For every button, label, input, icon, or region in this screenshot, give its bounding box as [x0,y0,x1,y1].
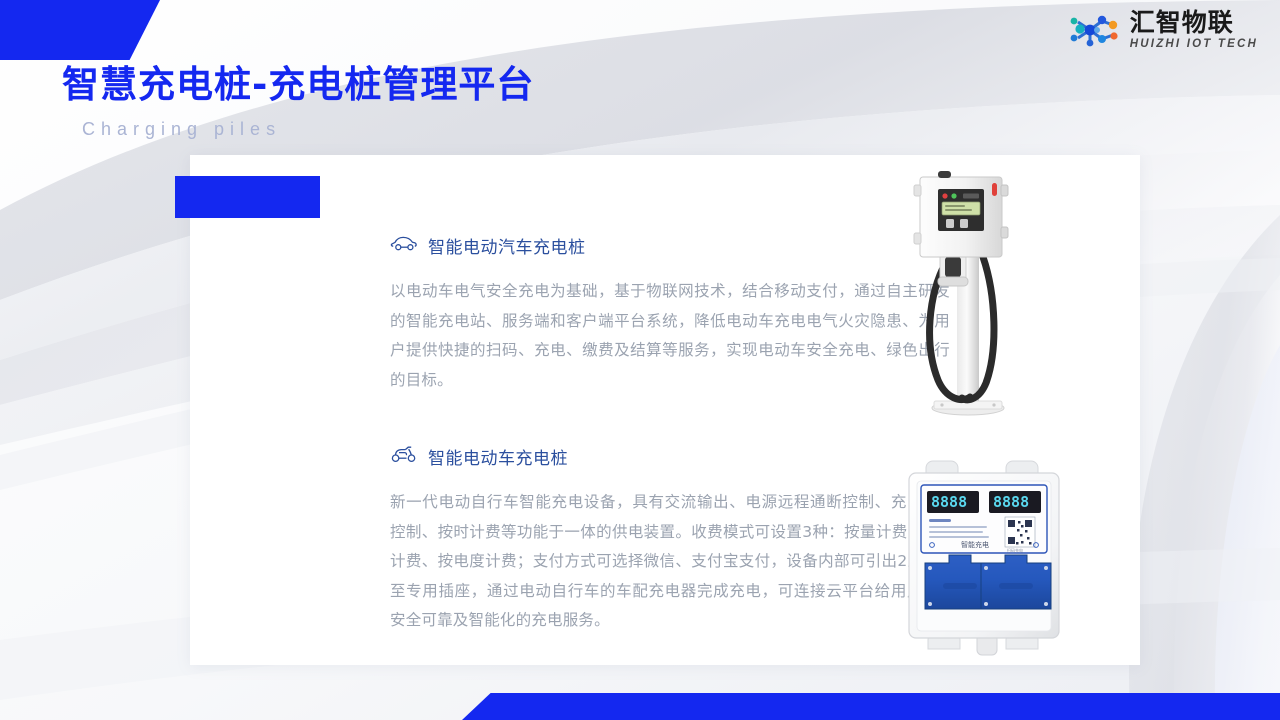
section-title: 智能电动汽车充电桩 [428,233,586,258]
logo-name-cn: 汇智物联 [1130,10,1258,35]
page-subtitle: Charging piles [82,119,534,140]
svg-text:8888: 8888 [931,493,967,511]
section-ebike-charging-pile: 智能电动车充电桩 新一代电动自行车智能充电设备，具有交流输出、电源远程通断控制、… [390,444,955,636]
ebike-charging-box-photo: 8888 8888 扫码充电 智能充电 [895,455,1090,660]
decor-band-bottom [462,693,1280,720]
ev-charging-pile-photo [880,165,1100,420]
page-title: 智慧充电桩-充电桩管理平台 [62,64,534,107]
section-heading: 智能电动车充电桩 [390,444,955,469]
svg-text:8888: 8888 [993,493,1029,511]
section-ev-charging-pile: 智能电动汽车充电桩 以电动车电气安全充电为基础，基于物联网技术，结合移动支付，通… [390,233,950,395]
logo-name-en: HUIZHI IOT TECH [1130,39,1258,51]
car-icon [390,234,418,258]
section-tab-badge [175,176,320,218]
molecule-network-icon [1068,12,1122,48]
section-heading: 智能电动汽车充电桩 [390,233,950,258]
ebike-box-caption: 智能充电 [961,540,989,549]
section-body-text: 新一代电动自行车智能充电设备，具有交流输出、电源远程通断控制、充电安全控制、按时… [390,488,955,636]
scooter-icon [390,444,418,469]
page-header: 智慧充电桩-充电桩管理平台 Charging piles [62,64,534,140]
svg-text:扫码充电: 扫码充电 [1007,547,1023,553]
brand-logo: 汇智物联 HUIZHI IOT TECH [1068,10,1258,51]
section-body-text: 以电动车电气安全充电为基础，基于物联网技术，结合移动支付，通过自主研发的智能充电… [390,277,950,395]
section-title: 智能电动车充电桩 [428,444,568,469]
